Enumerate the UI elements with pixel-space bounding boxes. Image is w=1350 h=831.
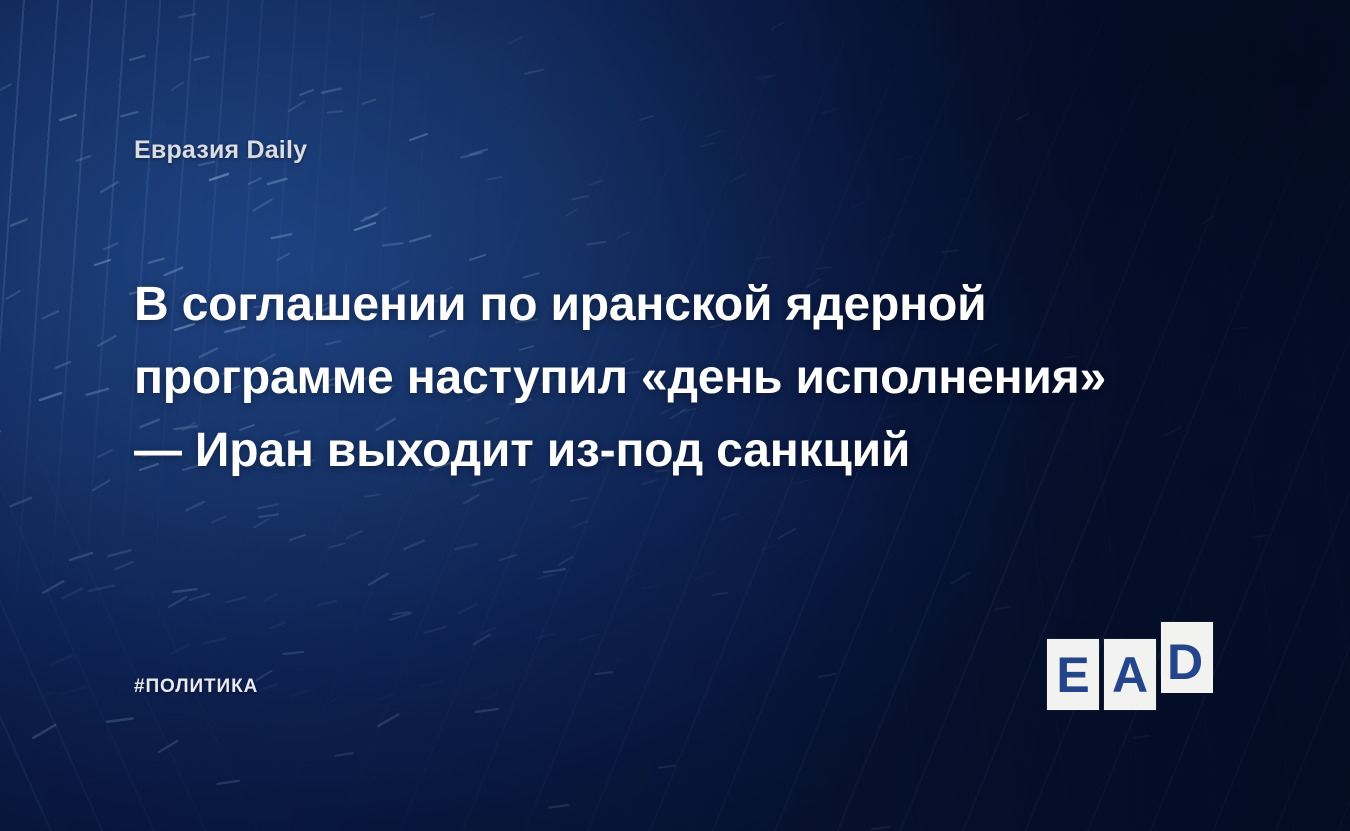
logo-tile-e: E (1047, 639, 1099, 710)
eadaily-logo[interactable]: E A D D (1047, 622, 1227, 710)
category-tag[interactable]: #ПОЛИТИКА (134, 676, 258, 698)
brand-title: Евразия Daily (134, 136, 307, 165)
logo-tile-a: A (1104, 639, 1156, 710)
logo-letter-d-lower: D (1167, 639, 1203, 687)
logo-letter-a: A (1112, 650, 1148, 700)
logo-letter-e: E (1056, 650, 1089, 700)
logo-tile-d-lower: D (1161, 639, 1213, 726)
card-content: Евразия Daily В соглашении по иранской я… (0, 0, 1350, 831)
article-card: Евразия Daily В соглашении по иранской я… (0, 0, 1350, 831)
page-title: В соглашении по иранской ядерной програм… (134, 268, 1144, 487)
